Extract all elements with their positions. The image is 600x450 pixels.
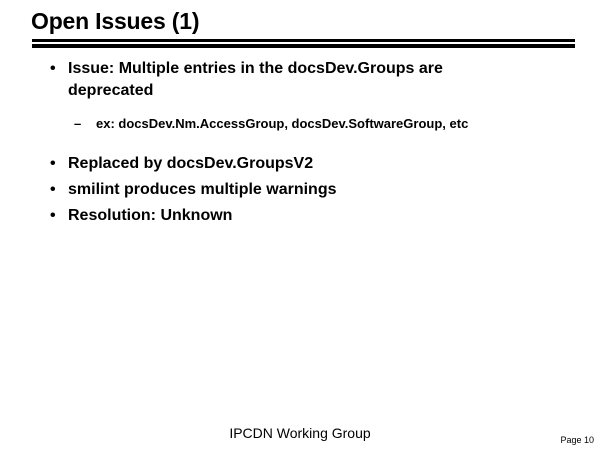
- sub-list-item: – ex: docsDev.Nm.AccessGroup, docsDev.So…: [0, 115, 600, 133]
- page-number: Page 10: [560, 434, 594, 446]
- list-item-label: Resolution: Unknown: [68, 205, 508, 227]
- list-item: • Replaced by docsDev.GroupsV2: [0, 153, 600, 175]
- divider-line-bottom: [32, 44, 575, 48]
- page-title: Open Issues (1): [31, 7, 199, 35]
- slide-body: • Issue: Multiple entries in the docsDev…: [0, 58, 600, 227]
- bullet-icon: •: [50, 205, 64, 227]
- bullet-icon: •: [50, 179, 64, 201]
- title-divider: [32, 39, 575, 48]
- dash-bullet-icon: –: [74, 115, 88, 133]
- list-item: • smilint produces multiple warnings: [0, 179, 600, 201]
- slide: Open Issues (1) • Issue: Multiple entrie…: [0, 0, 600, 450]
- sub-list-item-label: ex: docsDev.Nm.AccessGroup, docsDev.Soft…: [96, 115, 546, 133]
- divider-line-top: [32, 39, 575, 42]
- list-item-label: Issue: Multiple entries in the docsDev.G…: [68, 58, 508, 102]
- list-item: • Issue: Multiple entries in the docsDev…: [0, 58, 600, 102]
- list-item: • Resolution: Unknown: [0, 205, 600, 227]
- bullet-icon: •: [50, 58, 64, 80]
- list-item-label: smilint produces multiple warnings: [68, 179, 508, 201]
- slide-footer: IPCDN Working Group: [0, 424, 600, 442]
- list-item-label: Replaced by docsDev.GroupsV2: [68, 153, 508, 175]
- bullet-icon: •: [50, 153, 64, 175]
